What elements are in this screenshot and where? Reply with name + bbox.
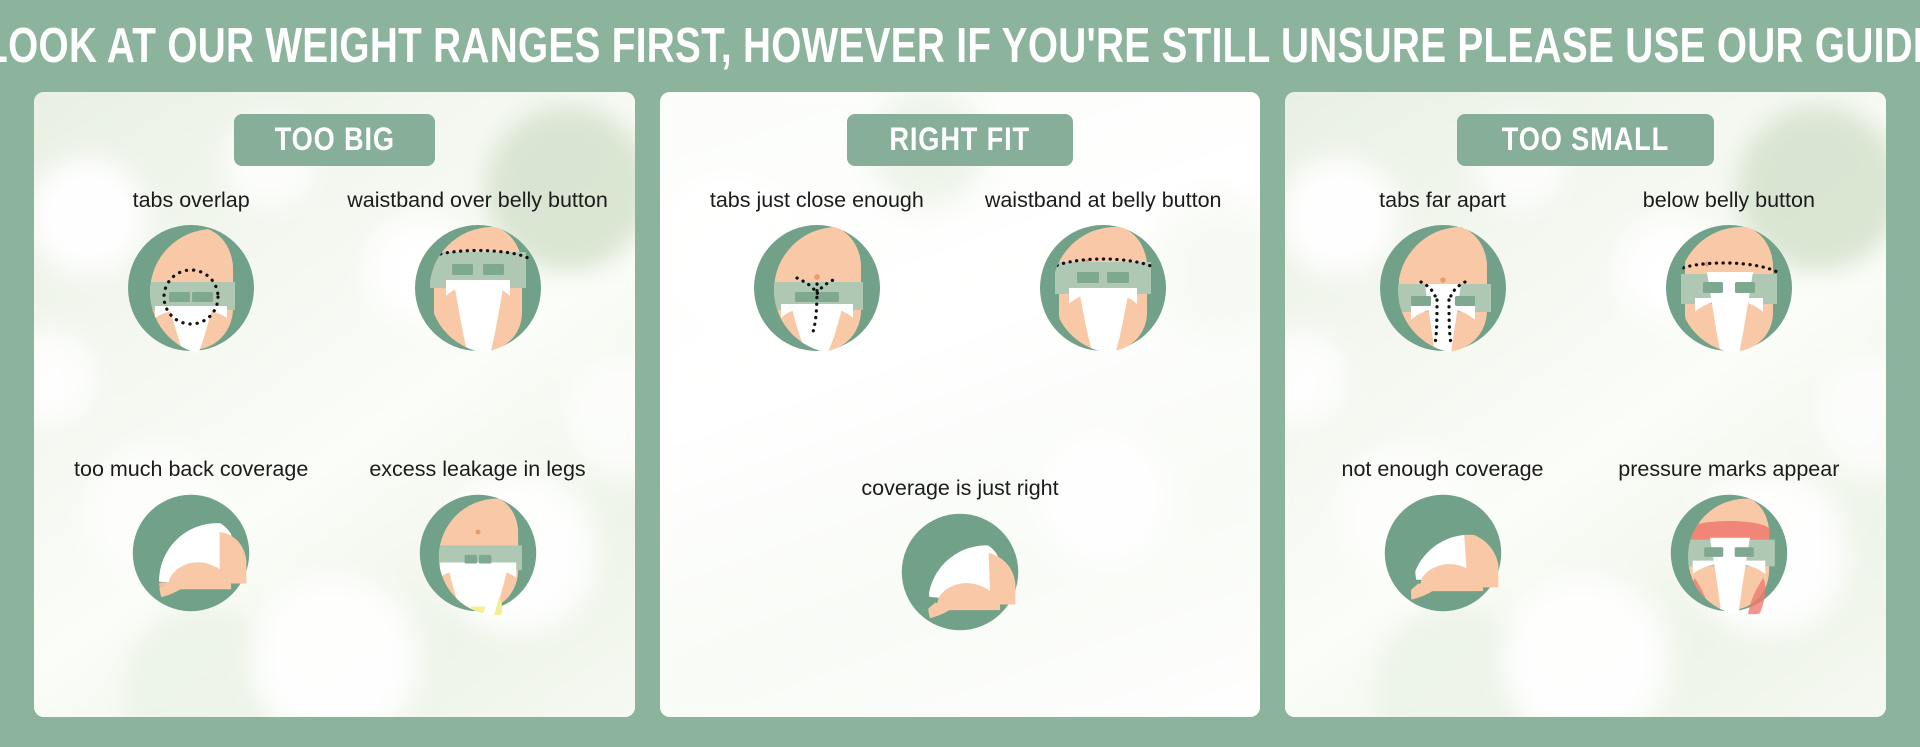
figure-front-waistband-over-belly [412, 222, 544, 354]
panel-badge-label: TOO BIG [274, 123, 394, 155]
panel-right-fit: RIGHT FIT tabs just close enough [660, 92, 1261, 717]
item-caption: below belly button [1643, 190, 1815, 212]
item-caption: coverage is just right [861, 478, 1058, 500]
figure-side-too-much-coverage [128, 490, 254, 616]
item-waistband-over-belly: waistband over belly button [334, 190, 620, 437]
panel-badge-label: TOO SMALL [1502, 123, 1669, 155]
item-tabs-overlap: tabs overlap [48, 190, 334, 437]
item-tabs-far-apart: tabs far apart [1299, 190, 1585, 437]
item-coverage-just-right: coverage is just right [674, 440, 1247, 700]
page-title: ALWAYS LOOK AT OUR WEIGHT RANGES FIRST, … [0, 22, 1920, 71]
panel-badge-too-small: TOO SMALL [1457, 114, 1714, 166]
item-caption: waistband over belly button [347, 190, 608, 212]
figure-side-coverage-just-right [897, 509, 1023, 635]
item-caption: not enough coverage [1341, 459, 1543, 481]
item-caption: tabs far apart [1379, 190, 1506, 212]
item-too-much-back-coverage: too much back coverage [48, 459, 334, 700]
panel-badge-too-big: TOO BIG [234, 114, 436, 166]
item-caption: tabs overlap [133, 190, 250, 212]
item-caption: too much back coverage [74, 459, 308, 481]
item-tabs-just-close-enough: tabs just close enough [674, 190, 960, 418]
figure-front-pressure-marks [1666, 490, 1792, 616]
item-caption: pressure marks appear [1618, 459, 1839, 481]
figure-front-tabs-overlap [125, 222, 257, 354]
item-caption: excess leakage in legs [369, 459, 585, 481]
figure-side-not-enough-coverage [1380, 490, 1506, 616]
figure-front-tabs-far-apart [1377, 222, 1509, 354]
panel-too-big: TOO BIG tabs overlap [34, 92, 635, 717]
item-waistband-at-belly: waistband at belly button [960, 190, 1246, 418]
item-pressure-marks: pressure marks appear [1586, 459, 1872, 700]
item-caption: waistband at belly button [985, 190, 1222, 212]
figure-front-leak-legs [415, 490, 541, 616]
item-excess-leakage: excess leakage in legs [334, 459, 620, 700]
panel-badge-label: RIGHT FIT [890, 123, 1031, 155]
figure-front-below-belly-button [1663, 222, 1795, 354]
panel-badge-right-fit: RIGHT FIT [847, 114, 1072, 166]
figure-front-waistband-at-belly [1037, 222, 1169, 354]
item-not-enough-coverage: not enough coverage [1299, 459, 1585, 700]
item-caption: tabs just close enough [710, 190, 924, 212]
panel-items-grid: tabs just close enough [674, 190, 1247, 699]
item-below-belly-button: below belly button [1586, 190, 1872, 437]
panel-too-small: TOO SMALL tabs far apart [1285, 92, 1886, 717]
figure-front-tabs-just-close [751, 222, 883, 354]
panel-items-grid: tabs overlap [48, 190, 621, 699]
guide-panels: TOO BIG tabs overlap [0, 92, 1920, 747]
panel-items-grid: tabs far apart [1299, 190, 1872, 699]
header-title-bar: ALWAYS LOOK AT OUR WEIGHT RANGES FIRST, … [0, 0, 1920, 92]
